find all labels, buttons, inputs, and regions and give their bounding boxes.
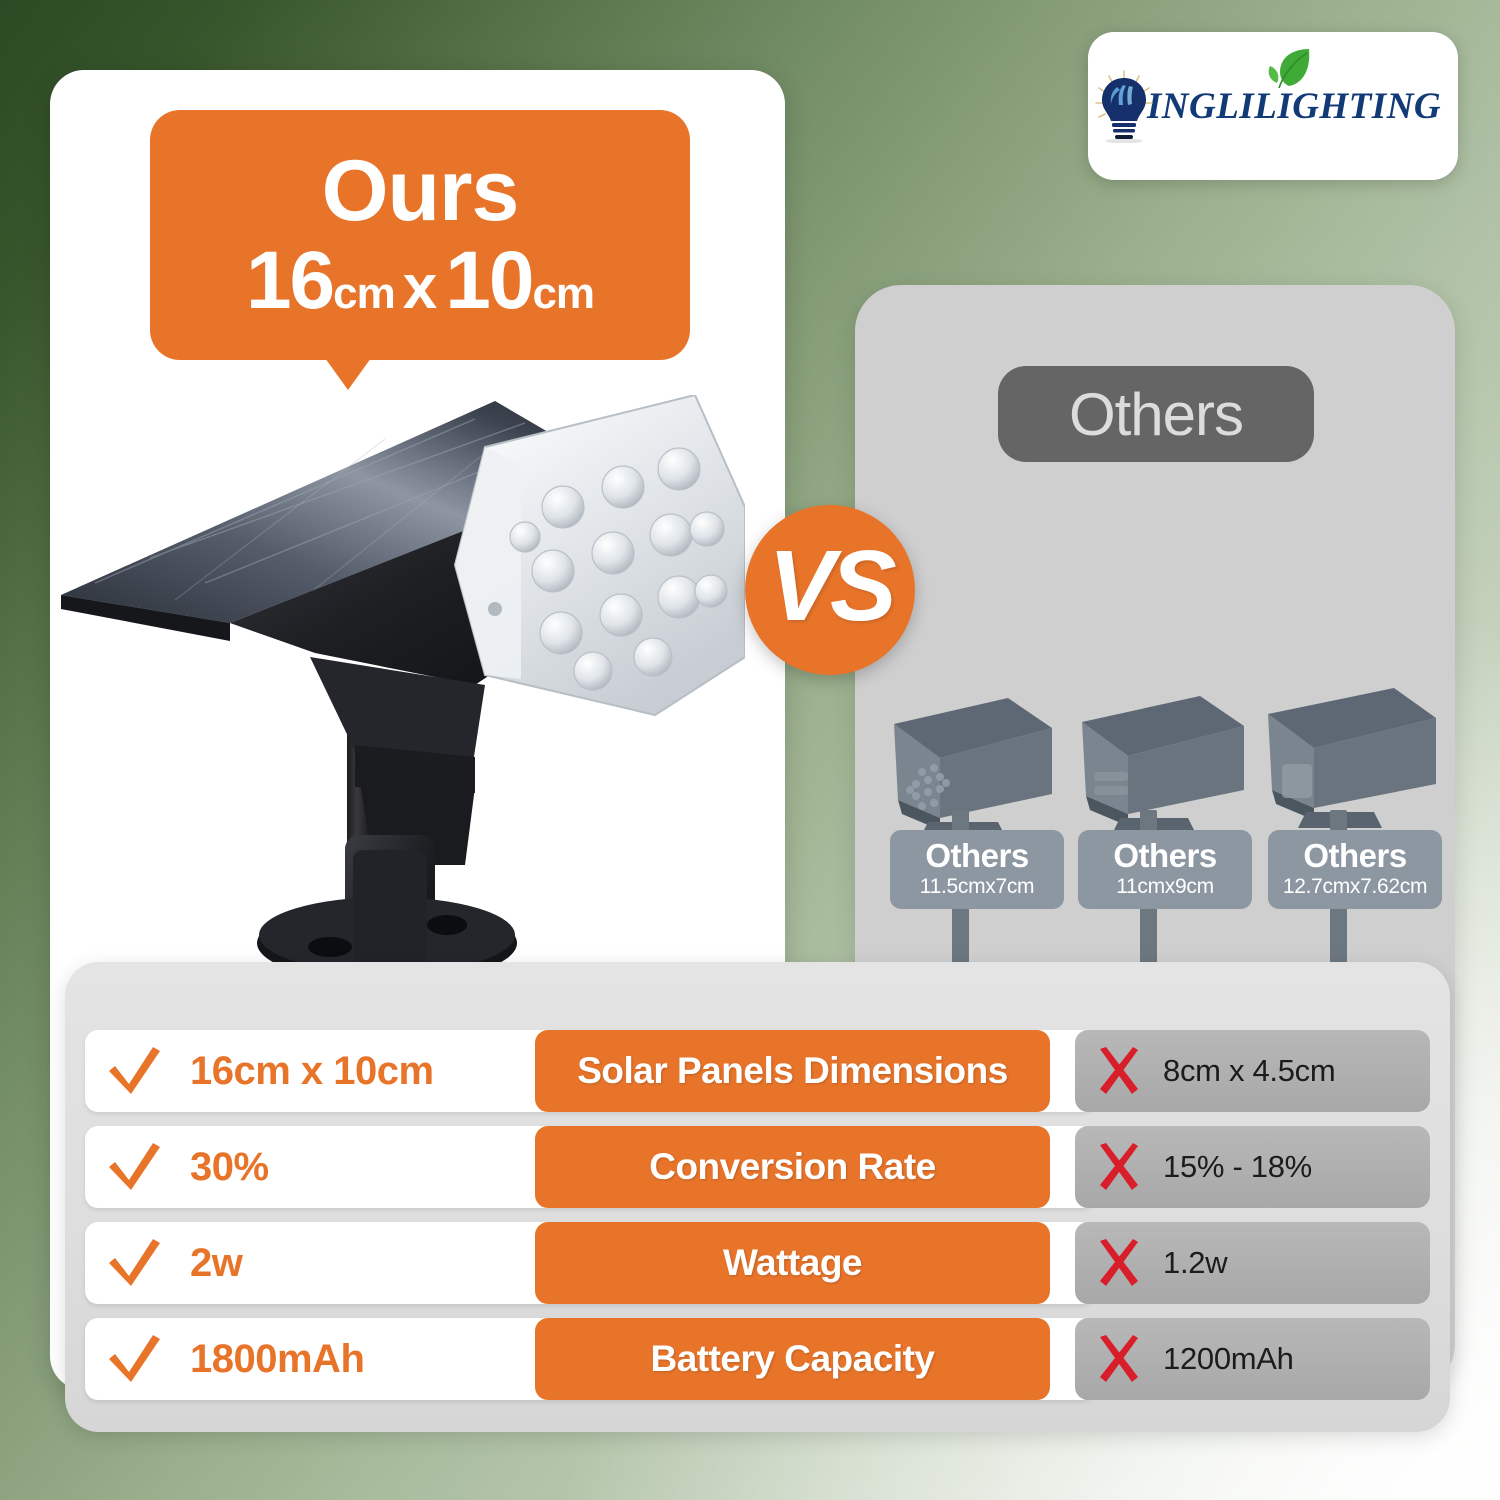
ours-value: 1800mAh <box>190 1318 364 1400</box>
badge-tail <box>325 358 371 390</box>
vs-label: VS <box>768 536 891 636</box>
ours-dim-separator: x <box>395 257 445 319</box>
feature-pill: Solar Panels Dimensions <box>535 1030 1050 1112</box>
cross-icon <box>1095 1046 1143 1096</box>
ours-value: 16cm x 10cm <box>190 1030 434 1112</box>
check-icon <box>105 1044 165 1098</box>
ours-value: 30% <box>190 1126 269 1208</box>
ours-dimension: 16 cm x 10 cm <box>246 240 594 322</box>
feature-pill: Battery Capacity <box>535 1318 1050 1400</box>
ours-dim-height: 10 <box>445 240 532 322</box>
others-value: 15% - 18% <box>1163 1126 1312 1208</box>
feature-pill: Conversion Rate <box>535 1126 1050 1208</box>
competitor-label-2-title: Others <box>1113 839 1216 873</box>
ours-title: Ours <box>322 148 519 234</box>
solar-spotlight-icon <box>55 395 745 975</box>
cross-icon <box>1095 1238 1143 1288</box>
others-title: Others <box>1069 380 1243 449</box>
competitor-lamp-icon-2 <box>1068 672 1248 847</box>
cross-icon <box>1095 1142 1143 1192</box>
ours-badge: Ours 16 cm x 10 cm <box>150 110 690 360</box>
others-badge: Others <box>998 366 1314 462</box>
brand-logo-card: INGLILIGHTING <box>1088 32 1458 180</box>
competitor-label-1-size: 11.5cmx7cm <box>920 875 1034 898</box>
others-value: 1.2w <box>1163 1222 1227 1304</box>
vs-badge: VS <box>745 505 915 675</box>
row-right-cell: 1.2w <box>1075 1222 1430 1304</box>
competitor-label-1: Others 11.5cmx7cm <box>890 830 1064 909</box>
competitor-label-3-title: Others <box>1303 839 1406 873</box>
cross-icon <box>1095 1334 1143 1384</box>
ours-dim-height-unit: cm <box>532 272 594 316</box>
feature-label: Solar Panels Dimensions <box>577 1050 1008 1092</box>
feature-label: Wattage <box>723 1242 862 1284</box>
row-right-cell: 1200mAh <box>1075 1318 1430 1400</box>
competitor-label-3: Others 12.7cmx7.62cm <box>1268 830 1442 909</box>
comparison-table: 16cm x 10cm Solar Panels Dimensions 8cm … <box>85 1030 1430 1414</box>
row-right-cell: 15% - 18% <box>1075 1126 1430 1208</box>
feature-label: Battery Capacity <box>650 1338 934 1380</box>
competitor-label-1-title: Others <box>925 839 1028 873</box>
competitor-label-2: Others 11cmx9cm <box>1078 830 1252 909</box>
check-icon <box>105 1332 165 1386</box>
others-value: 8cm x 4.5cm <box>1163 1030 1335 1112</box>
check-icon <box>105 1140 165 1194</box>
feature-label: Conversion Rate <box>649 1146 936 1188</box>
ours-dim-width: 16 <box>246 240 333 322</box>
table-row: 1800mAh Battery Capacity 1200mAh <box>85 1318 1430 1400</box>
competitor-label-2-size: 11cmx9cm <box>1116 875 1214 898</box>
competitor-lamp-icon-3 <box>1258 668 1438 843</box>
competitor-lamp-icon-1 <box>880 672 1060 847</box>
ours-value: 2w <box>190 1222 242 1304</box>
table-row: 2w Wattage 1.2w <box>85 1222 1430 1304</box>
competitor-label-3-size: 12.7cmx7.62cm <box>1283 875 1427 898</box>
lightbulb-icon <box>1093 69 1155 143</box>
leaf-icon <box>1263 44 1315 96</box>
table-row: 16cm x 10cm Solar Panels Dimensions 8cm … <box>85 1030 1430 1112</box>
ours-dim-width-unit: cm <box>333 272 395 316</box>
row-right-cell: 8cm x 4.5cm <box>1075 1030 1430 1112</box>
check-icon <box>105 1236 165 1290</box>
feature-pill: Wattage <box>535 1222 1050 1304</box>
others-value: 1200mAh <box>1163 1318 1294 1400</box>
table-row: 30% Conversion Rate 15% - 18% <box>85 1126 1430 1208</box>
